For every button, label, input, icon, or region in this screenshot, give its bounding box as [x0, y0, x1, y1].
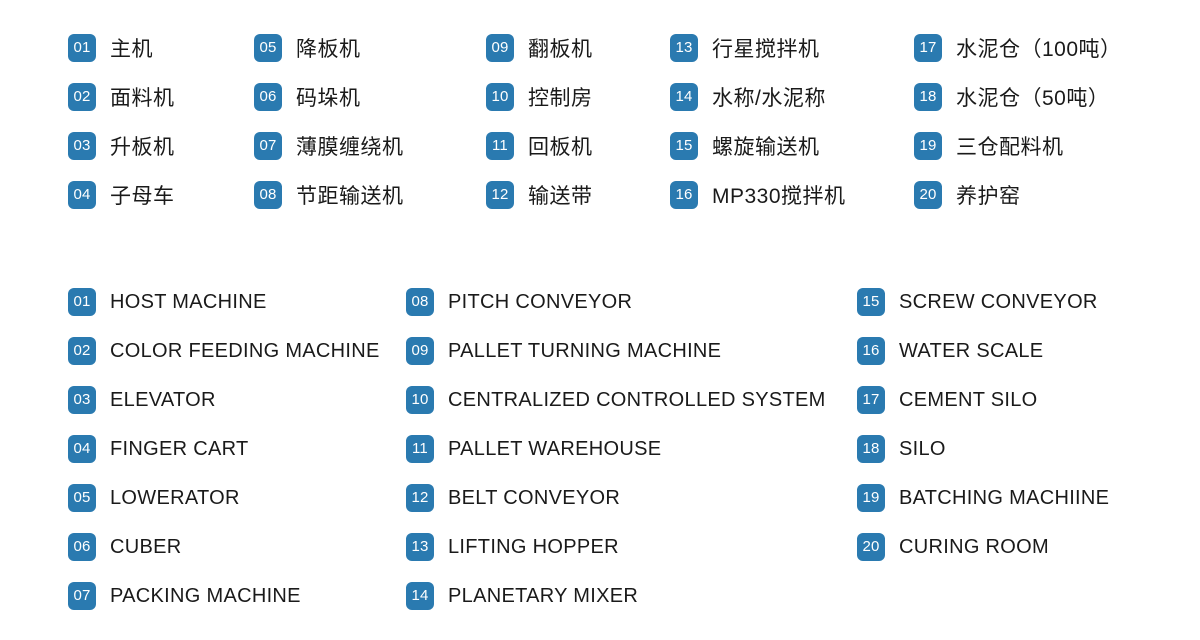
- legend-item: 19BATCHING MACHIINE: [857, 484, 1109, 512]
- legend-item-label: 码垛机: [296, 82, 361, 112]
- legend-number-badge: 20: [857, 533, 885, 561]
- legend-number-badge: 05: [254, 34, 282, 62]
- legend-item: 16WATER SCALE: [857, 337, 1109, 365]
- legend-chinese-column-2: 05降板机06码垛机07薄膜缠绕机08节距输送机: [254, 34, 404, 209]
- legend-item: 04FINGER CART: [68, 435, 380, 463]
- legend-number-badge: 12: [486, 181, 514, 209]
- legend-item-label: 节距输送机: [296, 180, 404, 210]
- legend-item: 12BELT CONVEYOR: [406, 484, 826, 512]
- legend-item: 10控制房: [486, 83, 593, 111]
- legend-item: 15SCREW CONVEYOR: [857, 288, 1109, 316]
- legend-item-label: PALLET WAREHOUSE: [448, 438, 661, 461]
- legend-number-badge: 03: [68, 132, 96, 160]
- legend-item: 15螺旋输送机: [670, 132, 846, 160]
- legend-item: 02面料机: [68, 83, 175, 111]
- legend-number-badge: 16: [670, 181, 698, 209]
- legend-number-badge: 13: [406, 533, 434, 561]
- legend-item-label: MP330搅拌机: [712, 180, 846, 210]
- legend-number-badge: 01: [68, 288, 96, 316]
- legend-english-section: 01HOST MACHINE02COLOR FEEDING MACHINE03E…: [0, 288, 1200, 628]
- legend-number-badge: 03: [68, 386, 96, 414]
- legend-number-badge: 11: [486, 132, 514, 160]
- legend-item-label: 子母车: [110, 180, 175, 210]
- legend-number-badge: 07: [254, 132, 282, 160]
- legend-item-label: 水泥仓（50吨）: [956, 82, 1109, 112]
- legend-item-label: PACKING MACHINE: [110, 585, 301, 608]
- legend-item-label: 控制房: [528, 82, 593, 112]
- legend-item-label: SILO: [899, 438, 946, 461]
- legend-number-badge: 08: [254, 181, 282, 209]
- legend-item-label: 翻板机: [528, 33, 593, 63]
- legend-number-badge: 02: [68, 83, 96, 111]
- legend-item: 05降板机: [254, 34, 404, 62]
- legend-number-badge: 01: [68, 34, 96, 62]
- legend-item: 17CEMENT SILO: [857, 386, 1109, 414]
- legend-number-badge: 17: [914, 34, 942, 62]
- legend-number-badge: 07: [68, 582, 96, 610]
- legend-item: 02COLOR FEEDING MACHINE: [68, 337, 380, 365]
- legend-number-badge: 09: [486, 34, 514, 62]
- legend-item: 09PALLET TURNING MACHINE: [406, 337, 826, 365]
- legend-number-badge: 06: [254, 83, 282, 111]
- legend-item: 01HOST MACHINE: [68, 288, 380, 316]
- legend-item: 03ELEVATOR: [68, 386, 380, 414]
- legend-chinese-column-1: 01主机02面料机03升板机04子母车: [68, 34, 175, 209]
- legend-item-label: FINGER CART: [110, 438, 249, 461]
- legend-item: 01主机: [68, 34, 175, 62]
- legend-number-badge: 18: [914, 83, 942, 111]
- legend-number-badge: 04: [68, 181, 96, 209]
- legend-item-label: PLANETARY MIXER: [448, 585, 638, 608]
- legend-item: 10CENTRALIZED CONTROLLED SYSTEM: [406, 386, 826, 414]
- legend-number-badge: 12: [406, 484, 434, 512]
- legend-item-label: ELEVATOR: [110, 389, 216, 412]
- legend-item: 07薄膜缠绕机: [254, 132, 404, 160]
- legend-number-badge: 14: [670, 83, 698, 111]
- legend-item: 07PACKING MACHINE: [68, 582, 380, 610]
- legend-item: 14水称/水泥称: [670, 83, 846, 111]
- legend-item-label: 螺旋输送机: [712, 131, 820, 161]
- legend-number-badge: 20: [914, 181, 942, 209]
- legend-item-label: 水泥仓（100吨）: [956, 33, 1122, 63]
- legend-number-badge: 08: [406, 288, 434, 316]
- legend-item: 13行星搅拌机: [670, 34, 846, 62]
- legend-item-label: 主机: [110, 33, 153, 63]
- legend-item-label: 输送带: [528, 180, 593, 210]
- legend-number-badge: 16: [857, 337, 885, 365]
- legend-item-label: BATCHING MACHIINE: [899, 487, 1109, 510]
- legend-item-label: 薄膜缠绕机: [296, 131, 404, 161]
- legend-number-badge: 19: [914, 132, 942, 160]
- legend-item-label: 水称/水泥称: [712, 82, 826, 112]
- legend-item-label: CENTRALIZED CONTROLLED SYSTEM: [448, 389, 826, 412]
- legend-number-badge: 02: [68, 337, 96, 365]
- legend-item: 17水泥仓（100吨）: [914, 34, 1122, 62]
- legend-item: 09翻板机: [486, 34, 593, 62]
- legend-number-badge: 14: [406, 582, 434, 610]
- legend-item: 13LIFTING HOPPER: [406, 533, 826, 561]
- legend-english-column-1: 01HOST MACHINE02COLOR FEEDING MACHINE03E…: [68, 288, 380, 610]
- legend-item: 03升板机: [68, 132, 175, 160]
- legend-item-label: 降板机: [296, 33, 361, 63]
- legend-item-label: CUBER: [110, 536, 182, 559]
- legend-item-label: SCREW CONVEYOR: [899, 291, 1098, 314]
- legend-chinese-column-3: 09翻板机10控制房11回板机12输送带: [486, 34, 593, 209]
- legend-item-label: 行星搅拌机: [712, 33, 820, 63]
- legend-chinese-column-4: 13行星搅拌机14水称/水泥称15螺旋输送机16MP330搅拌机: [670, 34, 846, 209]
- legend-item-label: CURING ROOM: [899, 536, 1049, 559]
- legend-item-label: HOST MACHINE: [110, 291, 267, 314]
- legend-item: 04子母车: [68, 181, 175, 209]
- legend-item-label: CEMENT SILO: [899, 389, 1038, 412]
- legend-item-label: WATER SCALE: [899, 340, 1043, 363]
- legend-item-label: PITCH CONVEYOR: [448, 291, 632, 314]
- legend-item-label: PALLET TURNING MACHINE: [448, 340, 721, 363]
- legend-number-badge: 09: [406, 337, 434, 365]
- legend-item-label: 升板机: [110, 131, 175, 161]
- legend-item-label: LIFTING HOPPER: [448, 536, 619, 559]
- legend-number-badge: 04: [68, 435, 96, 463]
- legend-number-badge: 10: [406, 386, 434, 414]
- legend-item: 16MP330搅拌机: [670, 181, 846, 209]
- legend-english-column-3: 15SCREW CONVEYOR16WATER SCALE17CEMENT SI…: [857, 288, 1109, 561]
- legend-item: 20CURING ROOM: [857, 533, 1109, 561]
- legend-number-badge: 17: [857, 386, 885, 414]
- legend-item-label: LOWERATOR: [110, 487, 240, 510]
- legend-item: 06CUBER: [68, 533, 380, 561]
- legend-item-label: BELT CONVEYOR: [448, 487, 620, 510]
- legend-chinese-section: 01主机02面料机03升板机04子母车 05降板机06码垛机07薄膜缠绕机08节…: [0, 34, 1200, 234]
- legend-item-label: 三仓配料机: [956, 131, 1064, 161]
- legend-item: 08节距输送机: [254, 181, 404, 209]
- legend-number-badge: 10: [486, 83, 514, 111]
- legend-page: 01主机02面料机03升板机04子母车 05降板机06码垛机07薄膜缠绕机08节…: [0, 0, 1200, 640]
- legend-item: 11回板机: [486, 132, 593, 160]
- legend-item: 20养护窑: [914, 181, 1122, 209]
- legend-number-badge: 18: [857, 435, 885, 463]
- legend-number-badge: 11: [406, 435, 434, 463]
- legend-chinese-column-5: 17水泥仓（100吨）18水泥仓（50吨）19三仓配料机20养护窑: [914, 34, 1122, 209]
- legend-number-badge: 19: [857, 484, 885, 512]
- legend-item-label: 回板机: [528, 131, 593, 161]
- legend-item-label: 养护窑: [956, 180, 1021, 210]
- legend-item-label: 面料机: [110, 82, 175, 112]
- legend-item: 08PITCH CONVEYOR: [406, 288, 826, 316]
- legend-item: 18SILO: [857, 435, 1109, 463]
- legend-number-badge: 15: [857, 288, 885, 316]
- legend-item: 06码垛机: [254, 83, 404, 111]
- legend-item: 05LOWERATOR: [68, 484, 380, 512]
- legend-number-badge: 05: [68, 484, 96, 512]
- legend-english-column-2: 08PITCH CONVEYOR09PALLET TURNING MACHINE…: [406, 288, 826, 610]
- legend-number-badge: 13: [670, 34, 698, 62]
- legend-number-badge: 06: [68, 533, 96, 561]
- legend-item: 11PALLET WAREHOUSE: [406, 435, 826, 463]
- legend-item: 18水泥仓（50吨）: [914, 83, 1122, 111]
- legend-item-label: COLOR FEEDING MACHINE: [110, 340, 380, 363]
- legend-item: 12输送带: [486, 181, 593, 209]
- legend-item: 19三仓配料机: [914, 132, 1122, 160]
- legend-number-badge: 15: [670, 132, 698, 160]
- legend-item: 14PLANETARY MIXER: [406, 582, 826, 610]
